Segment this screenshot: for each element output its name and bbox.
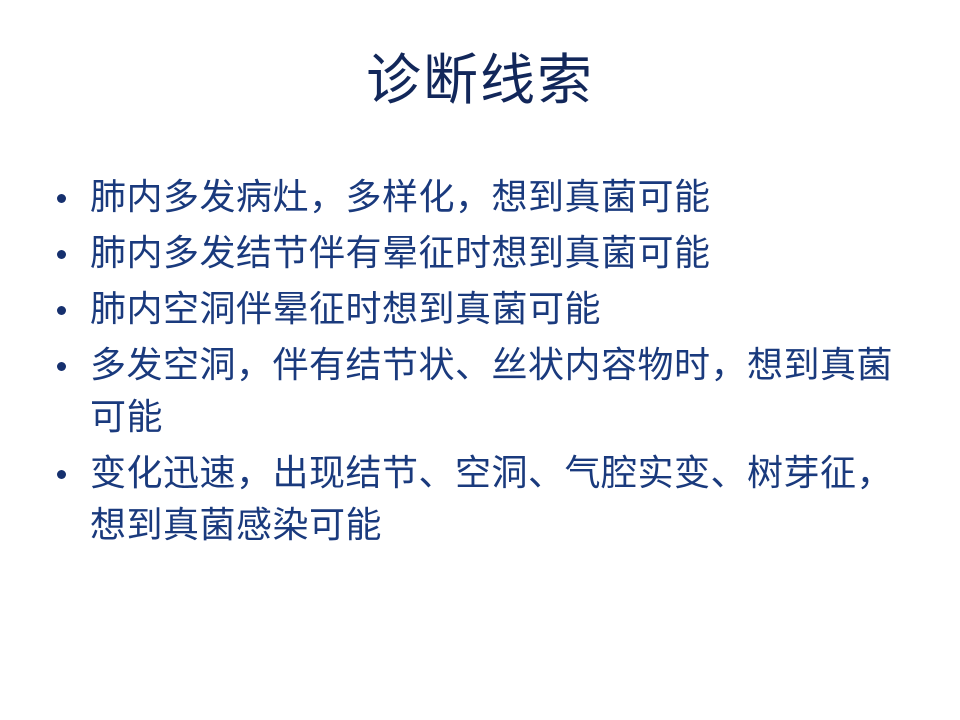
list-item: 肺内多发病灶，多样化，想到真菌可能 (52, 172, 924, 224)
bullet-dot-icon (57, 250, 66, 259)
list-item: 肺内空洞伴晕征时想到真菌可能 (52, 284, 924, 336)
list-item-text: 肺内空洞伴晕征时想到真菌可能 (90, 284, 924, 336)
bullet-dot-icon (57, 194, 66, 203)
bullet-dot-icon (57, 306, 66, 315)
list-item: 变化迅速，出现结节、空洞、气腔实变、树芽征，想到真菌感染可能 (52, 448, 924, 552)
list-item-text: 变化迅速，出现结节、空洞、气腔实变、树芽征，想到真菌感染可能 (90, 448, 924, 552)
page-title: 诊断线索 (0, 48, 960, 112)
list-item-text: 肺内多发病灶，多样化，想到真菌可能 (90, 172, 924, 224)
bullet-dot-icon (57, 470, 66, 479)
bullet-dot-icon (57, 362, 66, 371)
list-item: 肺内多发结节伴有晕征时想到真菌可能 (52, 228, 924, 280)
list-item: 多发空洞，伴有结节状、丝状内容物时，想到真菌可能 (52, 340, 924, 444)
bullet-list: 肺内多发病灶，多样化，想到真菌可能 肺内多发结节伴有晕征时想到真菌可能 肺内空洞… (52, 172, 924, 556)
list-item-text: 多发空洞，伴有结节状、丝状内容物时，想到真菌可能 (90, 340, 924, 444)
presentation-slide: 诊断线索 肺内多发病灶，多样化，想到真菌可能 肺内多发结节伴有晕征时想到真菌可能… (0, 0, 960, 720)
list-item-text: 肺内多发结节伴有晕征时想到真菌可能 (90, 228, 924, 280)
